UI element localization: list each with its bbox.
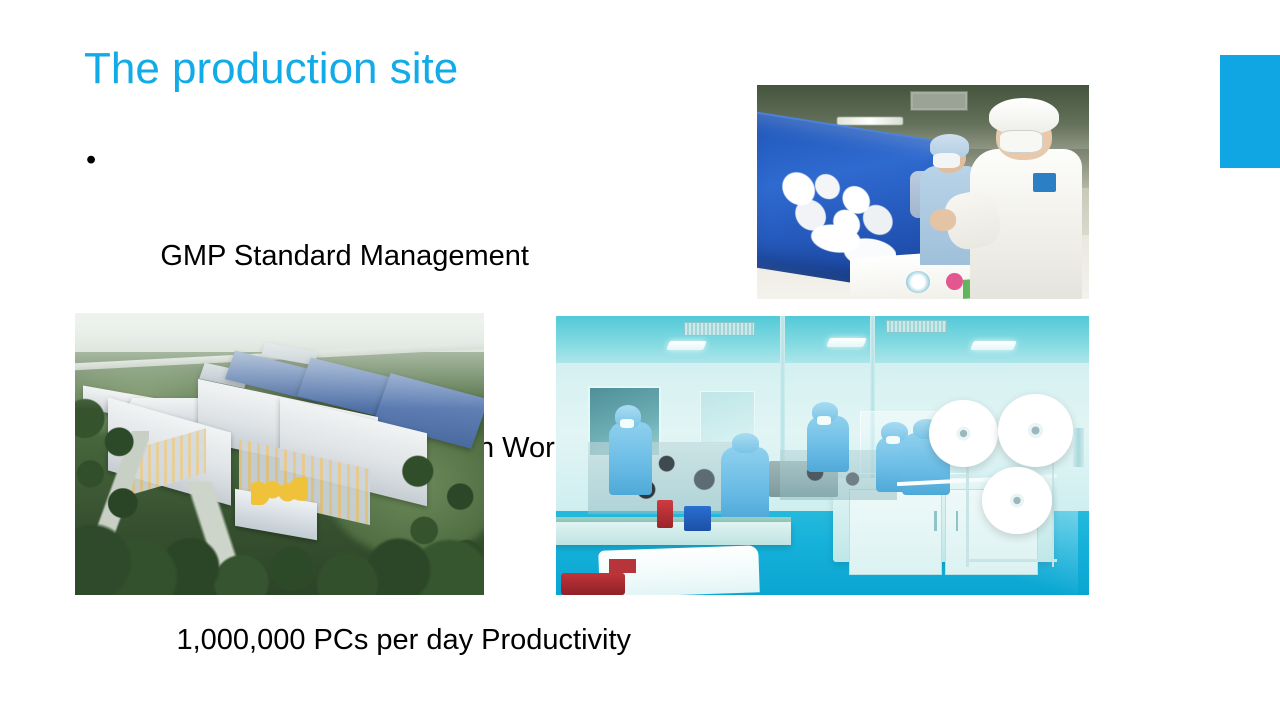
wall-pipe bbox=[1073, 428, 1084, 467]
roll-stand-base bbox=[966, 559, 1057, 562]
uniform-logo-badge bbox=[1033, 173, 1056, 192]
ceiling-light bbox=[666, 341, 707, 350]
worker-face-mask bbox=[886, 436, 900, 444]
ceiling-vent-icon bbox=[886, 320, 947, 333]
fabric-roll bbox=[929, 400, 998, 467]
cleanroom-production-photo bbox=[556, 316, 1089, 595]
list-item: • GMP Standard Management bbox=[80, 136, 740, 328]
slide-canvas: The production site • GMP Standard Manag… bbox=[0, 0, 1280, 720]
cabinet-handle bbox=[956, 511, 959, 531]
page-title: The production site bbox=[84, 40, 724, 98]
ceiling-vent-icon bbox=[910, 91, 968, 110]
cabinet-door bbox=[849, 489, 942, 575]
worker-blue-suit bbox=[807, 416, 850, 472]
right-edge-accent-rectangle bbox=[1220, 55, 1280, 168]
cleanroom-photo-content bbox=[556, 316, 1089, 595]
worker-face-mask bbox=[817, 416, 831, 424]
worker-middle-mask bbox=[933, 153, 960, 168]
ceiling-light bbox=[826, 338, 867, 347]
worker-face-mask bbox=[620, 419, 634, 427]
worker-blue-suit bbox=[609, 422, 652, 495]
worker-front-mask bbox=[999, 130, 1042, 154]
red-bin bbox=[609, 559, 636, 573]
factory-aerial-content bbox=[75, 313, 484, 595]
packing-line-photo bbox=[757, 85, 1089, 299]
ceiling-light bbox=[970, 341, 1016, 350]
ceiling-light bbox=[837, 117, 903, 124]
fabric-roll bbox=[998, 394, 1073, 467]
ceiling-vent-icon bbox=[684, 322, 755, 337]
packing-line-photo-content bbox=[757, 85, 1089, 299]
worker-front-cap bbox=[989, 98, 1059, 134]
aerial-trees-bottom bbox=[75, 516, 484, 595]
bullet-marker-icon: • bbox=[86, 136, 96, 184]
red-container bbox=[657, 500, 673, 528]
fabric-roll bbox=[982, 467, 1051, 534]
aerial-horizon-haze bbox=[75, 313, 484, 409]
red-bin bbox=[561, 573, 625, 595]
list-item-label: 1,000,000 PCs per day Productivity bbox=[160, 624, 631, 656]
factory-aerial-render bbox=[75, 313, 484, 595]
product-logo-circle bbox=[906, 271, 929, 292]
cabinet-handle bbox=[934, 511, 937, 531]
worker-blue-suit bbox=[721, 447, 769, 520]
blue-bin bbox=[684, 506, 711, 531]
work-table bbox=[556, 522, 791, 544]
worker-hood bbox=[732, 433, 759, 453]
list-item-label: GMP Standard Management bbox=[160, 240, 529, 272]
worker-front-hand bbox=[930, 209, 957, 230]
